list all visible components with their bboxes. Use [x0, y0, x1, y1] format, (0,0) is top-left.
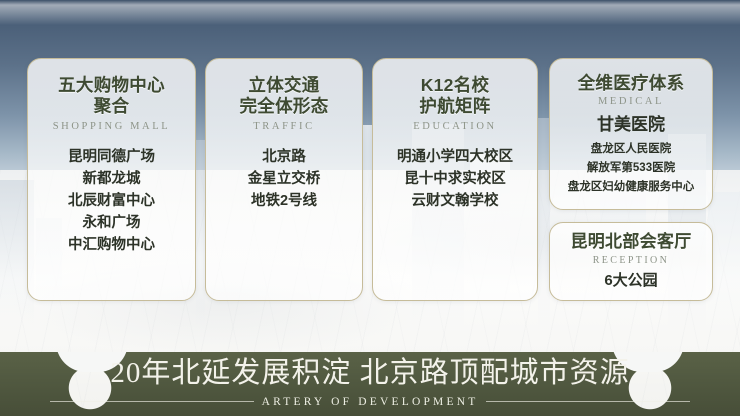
list-item: 地铁2号线 — [206, 190, 362, 212]
list-item: 永和广场 — [28, 212, 195, 234]
bottom-banner: 20年北延发展积淀 北京路顶配城市资源 ARTERY OF DEVELOPMEN… — [0, 352, 740, 416]
card-item-list: 明通小学四大校区 昆十中求实校区 云财文翰学校 — [373, 146, 537, 212]
card-title: 立体交通 完全体形态 — [206, 75, 362, 116]
card-subtitle: SHOPPING MALL — [28, 121, 195, 132]
banner-subline: ARTERY OF DEVELOPMENT — [262, 396, 479, 408]
card-lead-item: 6大公园 — [550, 270, 712, 292]
card-medical[interactable]: 全维医疗体系 MEDICAL 甘美医院 盘龙区人民医院 解放军第533医院 盘龙… — [549, 58, 713, 210]
list-item: 明通小学四大校区 — [373, 146, 537, 168]
list-item: 昆明同德广场 — [28, 146, 195, 168]
card-reception[interactable]: 昆明北部会客厅 RECEPTION 6大公园 — [549, 222, 713, 301]
card-item-list: 昆明同德广场 新都龙城 北辰财富中心 永和广场 中汇购物中心 — [28, 146, 195, 256]
card-title: 五大购物中心 聚合 — [28, 75, 195, 116]
banner-headline: 20年北延发展积淀 北京路顶配城市资源 — [110, 356, 629, 391]
card-item-list: 北京路 金星立交桥 地铁2号线 — [206, 146, 362, 212]
card-subtitle: RECEPTION — [550, 255, 712, 266]
list-item: 中汇购物中心 — [28, 234, 195, 256]
card-shopping-mall[interactable]: 五大购物中心 聚合 SHOPPING MALL 昆明同德广场 新都龙城 北辰财富… — [27, 58, 196, 301]
card-lead-item: 甘美医院 — [550, 113, 712, 138]
card-subtitle: TRAFFIC — [206, 121, 362, 132]
banner-rule-left — [50, 401, 254, 402]
card-title: 全维医疗体系 — [550, 73, 712, 94]
card-title: 昆明北部会客厅 — [550, 232, 712, 252]
banner-subline-row: ARTERY OF DEVELOPMENT — [50, 396, 690, 408]
list-item: 云财文翰学校 — [373, 190, 537, 212]
list-item: 解放军第533医院 — [550, 159, 712, 178]
list-item: 盘龙区妇幼健康服务中心 — [550, 178, 712, 197]
list-item: 北京路 — [206, 146, 362, 168]
list-item: 北辰财富中心 — [28, 190, 195, 212]
card-subtitle: MEDICAL — [550, 96, 712, 107]
banner-rule-right — [486, 401, 690, 402]
card-subtitle: EDUCATION — [373, 121, 537, 132]
card-item-list: 盘龙区人民医院 解放军第533医院 盘龙区妇幼健康服务中心 — [550, 140, 712, 196]
card-traffic[interactable]: 立体交通 完全体形态 TRAFFIC 北京路 金星立交桥 地铁2号线 — [205, 58, 363, 301]
list-item: 新都龙城 — [28, 168, 195, 190]
list-item: 金星立交桥 — [206, 168, 362, 190]
card-education[interactable]: K12名校 护航矩阵 EDUCATION 明通小学四大校区 昆十中求实校区 云财… — [372, 58, 538, 301]
list-item: 昆十中求实校区 — [373, 168, 537, 190]
poster-canvas: 五大购物中心 聚合 SHOPPING MALL 昆明同德广场 新都龙城 北辰财富… — [0, 0, 740, 416]
list-item: 盘龙区人民医院 — [550, 140, 712, 159]
card-title: K12名校 护航矩阵 — [373, 75, 537, 116]
